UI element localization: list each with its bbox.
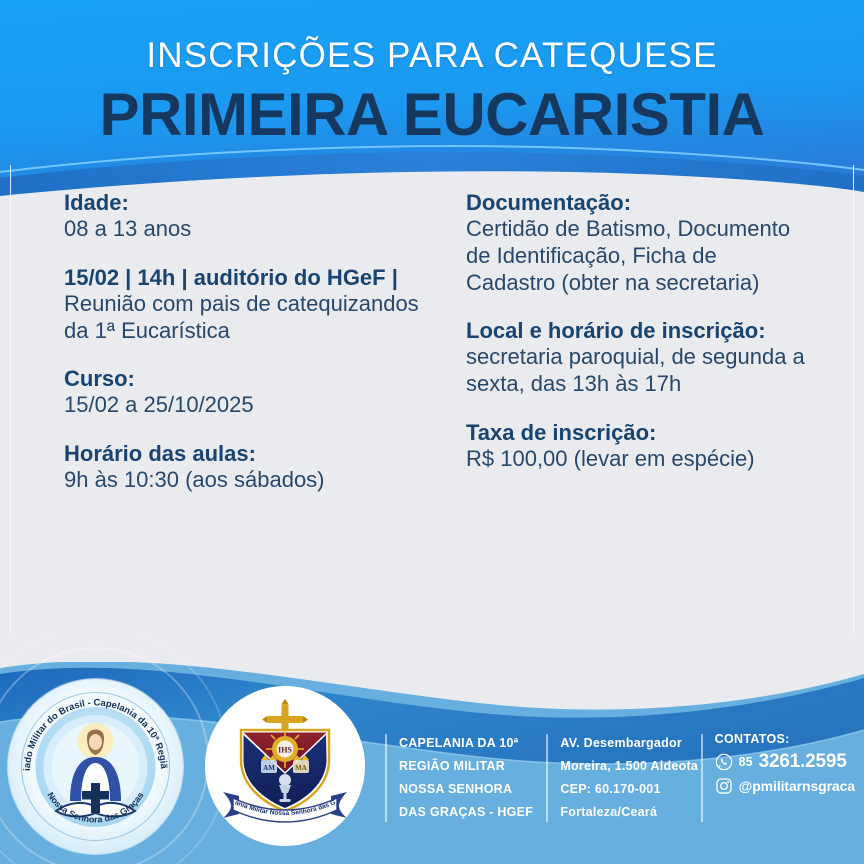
footer-line: REGIÃO MILITAR xyxy=(399,755,546,778)
instagram-handle: @pmilitarnsgraca xyxy=(739,778,855,794)
whatsapp-number: 3261.2595 xyxy=(759,751,847,773)
svg-text:AM: AM xyxy=(263,764,275,772)
info-body: 15/02 a 25/10/2025 xyxy=(64,392,424,419)
svg-text:IHS: IHS xyxy=(278,746,292,755)
info-block-local-inscricao: Local e horário de inscrição: secretaria… xyxy=(466,318,811,398)
info-body: Certidão de Batismo, Documento de Identi… xyxy=(466,216,811,296)
svg-text:MA: MA xyxy=(295,764,307,772)
footer-line: AV. Desembargador xyxy=(560,732,700,755)
poster-header: INSCRIÇÕES PARA CATEQUESE PRIMEIRA EUCAR… xyxy=(0,0,864,200)
footer-column-organization: CAPELANIA DA 10ª REGIÃO MILITAR NOSSA SE… xyxy=(385,732,546,825)
footer-column-contacts: CONTATOS: 85 3261.2595 xyxy=(701,732,855,799)
info-block-documentacao: Documentação: Certidão de Batismo, Docum… xyxy=(466,190,811,296)
info-column-left: Idade: 08 a 13 anos 15/02 | 14h | auditó… xyxy=(64,190,424,516)
info-body: Reunião com pais de catequizandos da 1ª … xyxy=(64,291,424,345)
poster-footer: Ordinariado Militar do Brasil - Capelani… xyxy=(0,634,864,864)
header-subtitle: INSCRIÇÕES PARA CATEQUESE xyxy=(0,38,864,73)
whatsapp-contact[interactable]: 85 3261.2595 xyxy=(715,751,855,773)
info-block-curso: Curso: 15/02 a 25/10/2025 xyxy=(64,366,424,419)
header-text-group: INSCRIÇÕES PARA CATEQUESE PRIMEIRA EUCAR… xyxy=(0,0,864,145)
ordinariado-militar-seal-logo: Ordinariado Militar do Brasil - Capelani… xyxy=(8,679,183,854)
seal-graphic: Ordinariado Militar do Brasil - Capelani… xyxy=(8,679,183,854)
instagram-contact[interactable]: @pmilitarnsgraca xyxy=(715,777,855,795)
info-block-horario-aulas: Horário das aulas: 9h às 10:30 (aos sába… xyxy=(64,441,424,494)
info-block-taxa: Taxa de inscrição: R$ 100,00 (levar em e… xyxy=(466,420,811,473)
footer-logos: Ordinariado Militar do Brasil - Capelani… xyxy=(0,664,400,864)
footer-line: DAS GRAÇAS - HGEF xyxy=(399,801,546,824)
info-body: 9h às 10:30 (aos sábados) xyxy=(64,467,424,494)
footer-line: CEP: 60.170-001 xyxy=(560,778,700,801)
info-heading: Taxa de inscrição: xyxy=(466,420,811,446)
whatsapp-area-code: 85 xyxy=(739,755,753,769)
contacts-title: CONTATOS: xyxy=(715,732,855,746)
footer-column-address: AV. Desembargador Moreira, 1.500 Aldeota… xyxy=(546,732,700,825)
info-block-idade: Idade: 08 a 13 anos xyxy=(64,190,424,243)
header-title: PRIMEIRA EUCARISTIA xyxy=(0,85,864,145)
info-heading: Documentação: xyxy=(466,190,811,216)
instagram-icon xyxy=(715,777,733,795)
info-heading: Curso: xyxy=(64,366,424,392)
capelania-coat-of-arms-logo: IHS AM MA xyxy=(205,686,365,846)
info-heading: 15/02 | 14h | auditório do HGeF | xyxy=(64,265,424,291)
info-body: secretaria paroquial, de segunda a sexta… xyxy=(466,344,811,398)
info-block-reuniao: 15/02 | 14h | auditório do HGeF | Reuniã… xyxy=(64,265,424,345)
poster-root: INSCRIÇÕES PARA CATEQUESE PRIMEIRA EUCAR… xyxy=(0,0,864,864)
coat-of-arms-graphic: IHS AM MA xyxy=(205,686,365,846)
footer-line: Fortaleza/Ceará xyxy=(560,801,700,824)
footer-line: CAPELANIA DA 10ª xyxy=(399,732,546,755)
info-heading: Local e horário de inscrição: xyxy=(466,318,811,344)
info-body: R$ 100,00 (levar em espécie) xyxy=(466,446,811,473)
info-heading: Idade: xyxy=(64,190,424,216)
footer-line: Moreira, 1.500 Aldeota xyxy=(560,755,700,778)
footer-info-columns: CAPELANIA DA 10ª REGIÃO MILITAR NOSSA SE… xyxy=(385,732,855,842)
footer-line: NOSSA SENHORA xyxy=(399,778,546,801)
poster-main-content: Idade: 08 a 13 anos 15/02 | 14h | auditó… xyxy=(0,190,864,660)
whatsapp-icon xyxy=(715,753,733,771)
info-column-right: Documentação: Certidão de Batismo, Docum… xyxy=(466,190,811,495)
info-heading: Horário das aulas: xyxy=(64,441,424,467)
info-body: 08 a 13 anos xyxy=(64,216,424,243)
